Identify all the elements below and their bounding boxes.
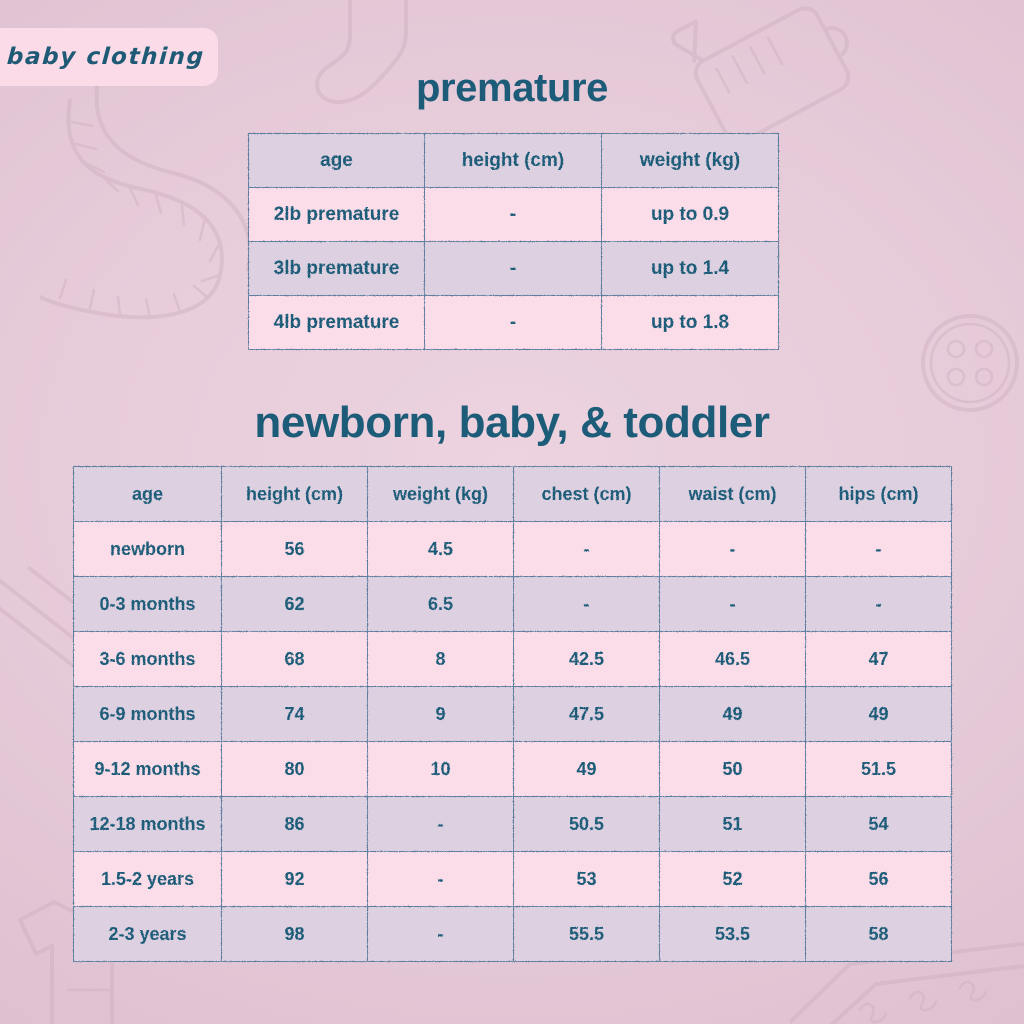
cell-chest: 47.5 <box>514 687 660 742</box>
cell-waist: 52 <box>660 852 806 907</box>
table-row: 6-9 months 74 9 47.5 49 49 <box>74 687 952 742</box>
table-row: 12-18 months 86 - 50.5 51 54 <box>74 797 952 852</box>
cell-waist: 46.5 <box>660 632 806 687</box>
column-header-weight: weight (kg) <box>602 134 779 188</box>
cell-weight: up to 1.4 <box>602 242 779 296</box>
newborn-baby-toddler-size-table: age height (cm) weight (kg) chest (cm) w… <box>73 466 952 962</box>
size-chart-canvas: baby clothing premature age height (cm) … <box>0 0 1024 1024</box>
cell-height: 98 <box>222 907 368 962</box>
cell-weight: 4.5 <box>368 522 514 577</box>
cell-waist: - <box>660 577 806 632</box>
cell-hips: - <box>806 577 952 632</box>
cell-age: newborn <box>74 522 222 577</box>
column-header-weight: weight (kg) <box>368 467 514 522</box>
cell-weight: 8 <box>368 632 514 687</box>
cell-waist: 51 <box>660 797 806 852</box>
table-header-row: age height (cm) weight (kg) <box>249 134 779 188</box>
cell-age: 3lb premature <box>249 242 425 296</box>
column-header-height: height (cm) <box>222 467 368 522</box>
cell-weight: - <box>368 797 514 852</box>
cell-hips: 47 <box>806 632 952 687</box>
table-row: newborn 56 4.5 - - - <box>74 522 952 577</box>
cell-height: 86 <box>222 797 368 852</box>
cell-weight: 9 <box>368 687 514 742</box>
cell-hips: 51.5 <box>806 742 952 797</box>
cell-weight: - <box>368 852 514 907</box>
cell-weight: up to 1.8 <box>602 296 779 350</box>
cell-height: - <box>425 242 602 296</box>
cell-age: 1.5-2 years <box>74 852 222 907</box>
cell-weight: - <box>368 907 514 962</box>
table-header-row: age height (cm) weight (kg) chest (cm) w… <box>74 467 952 522</box>
main-section-title: newborn, baby, & toddler <box>0 398 1024 448</box>
cell-chest: 55.5 <box>514 907 660 962</box>
table-row: 4lb premature - up to 1.8 <box>249 296 779 350</box>
cell-hips: 49 <box>806 687 952 742</box>
cell-age: 2lb premature <box>249 188 425 242</box>
table-row: 2-3 years 98 - 55.5 53.5 58 <box>74 907 952 962</box>
table-row: 9-12 months 80 10 49 50 51.5 <box>74 742 952 797</box>
cell-hips: 54 <box>806 797 952 852</box>
cell-chest: - <box>514 522 660 577</box>
cell-hips: - <box>806 522 952 577</box>
column-header-age: age <box>74 467 222 522</box>
cell-age: 2-3 years <box>74 907 222 962</box>
table-row: 3-6 months 68 8 42.5 46.5 47 <box>74 632 952 687</box>
column-header-hips: hips (cm) <box>806 467 952 522</box>
column-header-chest: chest (cm) <box>514 467 660 522</box>
cell-chest: 49 <box>514 742 660 797</box>
cell-chest: 50.5 <box>514 797 660 852</box>
cell-hips: 58 <box>806 907 952 962</box>
table-row: 1.5-2 years 92 - 53 52 56 <box>74 852 952 907</box>
cell-age: 0-3 months <box>74 577 222 632</box>
column-header-height: height (cm) <box>425 134 602 188</box>
cell-age: 9-12 months <box>74 742 222 797</box>
cell-waist: 49 <box>660 687 806 742</box>
table-row: 2lb premature - up to 0.9 <box>249 188 779 242</box>
cell-age: 12-18 months <box>74 797 222 852</box>
cell-chest: - <box>514 577 660 632</box>
cell-height: 80 <box>222 742 368 797</box>
table-row: 0-3 months 62 6.5 - - - <box>74 577 952 632</box>
column-header-waist: waist (cm) <box>660 467 806 522</box>
premature-section-title: premature <box>0 66 1024 111</box>
cell-waist: 53.5 <box>660 907 806 962</box>
cell-height: 92 <box>222 852 368 907</box>
column-header-age: age <box>249 134 425 188</box>
cell-age: 6-9 months <box>74 687 222 742</box>
premature-size-table: age height (cm) weight (kg) 2lb prematur… <box>248 133 779 350</box>
cell-weight: 6.5 <box>368 577 514 632</box>
table-row: 3lb premature - up to 1.4 <box>249 242 779 296</box>
cell-weight: up to 0.9 <box>602 188 779 242</box>
cell-age: 4lb premature <box>249 296 425 350</box>
cell-chest: 42.5 <box>514 632 660 687</box>
cell-weight: 10 <box>368 742 514 797</box>
cell-waist: 50 <box>660 742 806 797</box>
cell-hips: 56 <box>806 852 952 907</box>
cell-height: 62 <box>222 577 368 632</box>
cell-height: 74 <box>222 687 368 742</box>
cell-height: 56 <box>222 522 368 577</box>
cell-height: - <box>425 188 602 242</box>
cell-height: - <box>425 296 602 350</box>
cell-height: 68 <box>222 632 368 687</box>
cell-waist: - <box>660 522 806 577</box>
cell-age: 3-6 months <box>74 632 222 687</box>
cell-chest: 53 <box>514 852 660 907</box>
